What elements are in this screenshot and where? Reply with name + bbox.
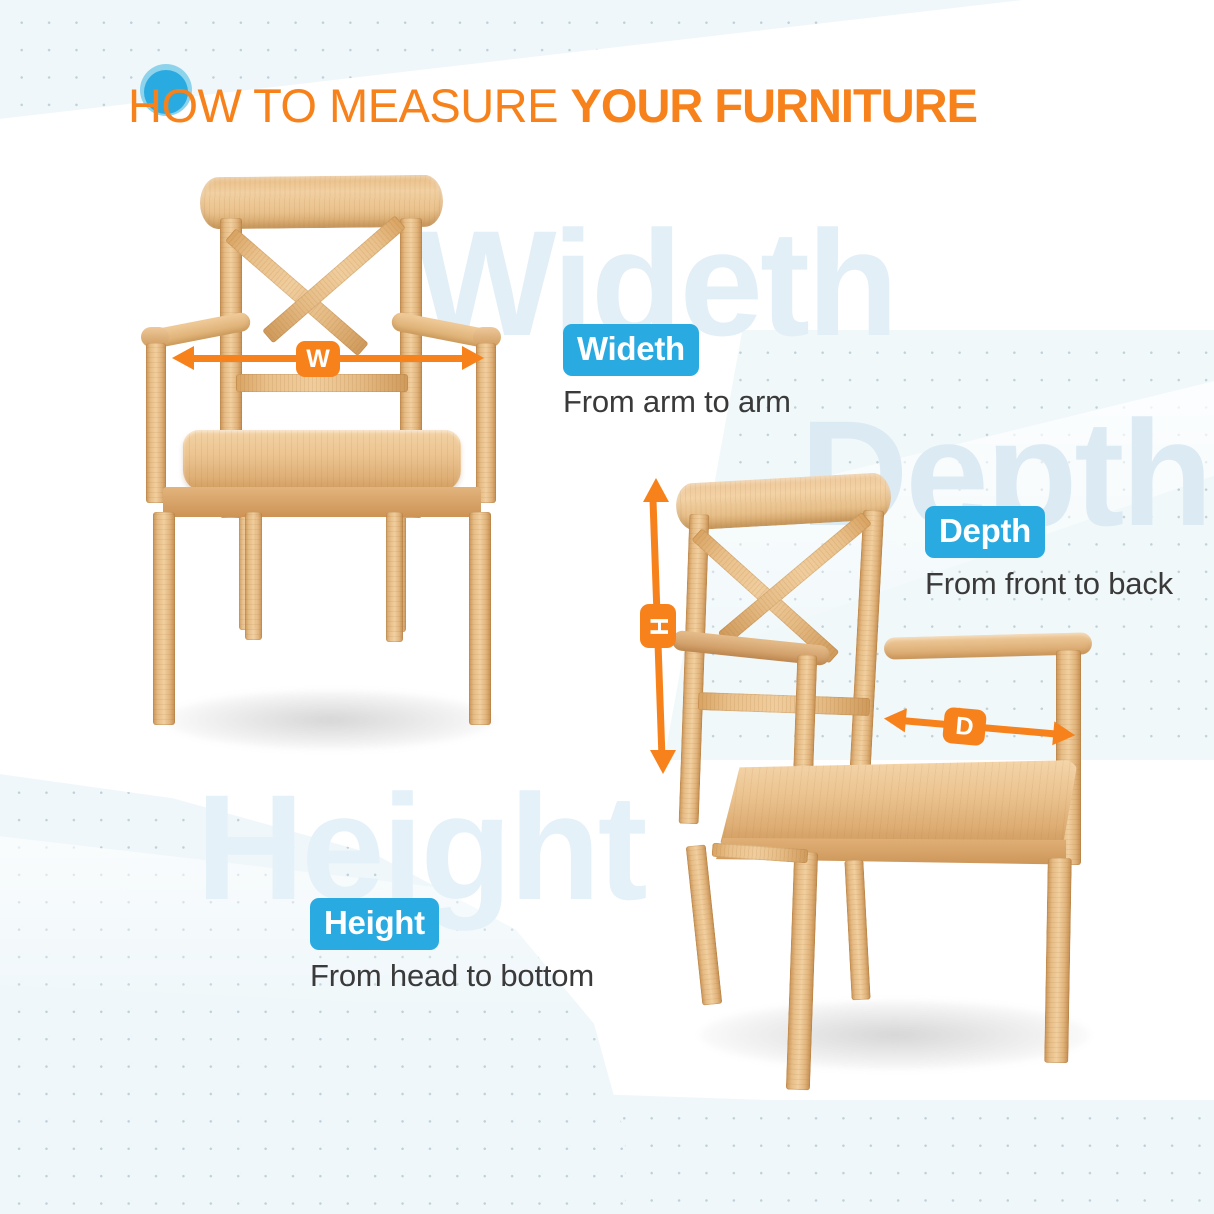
height-label-block: Height From head to bottom (310, 898, 594, 994)
height-description: From head to bottom (310, 958, 594, 994)
arrow-head-down-icon (650, 750, 676, 774)
depth-marker-chip: D (942, 707, 987, 747)
chair2-leg-back-right (844, 860, 870, 1001)
height-marker-letter: H (646, 617, 671, 635)
arrow-head-up-icon (643, 478, 669, 502)
height-marker-chip: H (640, 604, 676, 648)
chair2-leg-front-right (1044, 858, 1072, 1063)
depth-label-block: Depth From front to back (925, 506, 1173, 602)
chair2-leg-back-left (686, 844, 723, 1005)
chair2-back-upright-left (679, 514, 710, 825)
depth-description: From front to back (925, 566, 1173, 602)
width-description: From arm to arm (563, 384, 791, 420)
page-title-text: HOW TO MEASURE YOUR FURNITURE (128, 78, 977, 134)
infographic-canvas: Wideth Depth Height HOW TO MEASURE YOUR … (0, 0, 1214, 1214)
page-title: HOW TO MEASURE YOUR FURNITURE (128, 78, 977, 134)
title-bold-part: YOUR FURNITURE (571, 79, 977, 132)
chair-angled-view (0, 0, 1214, 1214)
width-badge: Wideth (563, 324, 699, 376)
title-light-part: HOW TO MEASURE (128, 79, 571, 132)
depth-badge: Depth (925, 506, 1045, 558)
chair2-seat (718, 760, 1078, 852)
width-label-block: Wideth From arm to arm (563, 324, 791, 420)
height-badge: Height (310, 898, 439, 950)
arrow-head-left-icon (883, 707, 907, 733)
arrow-head-right-icon (1052, 721, 1076, 747)
chair2-back-lower-rail (698, 692, 871, 716)
